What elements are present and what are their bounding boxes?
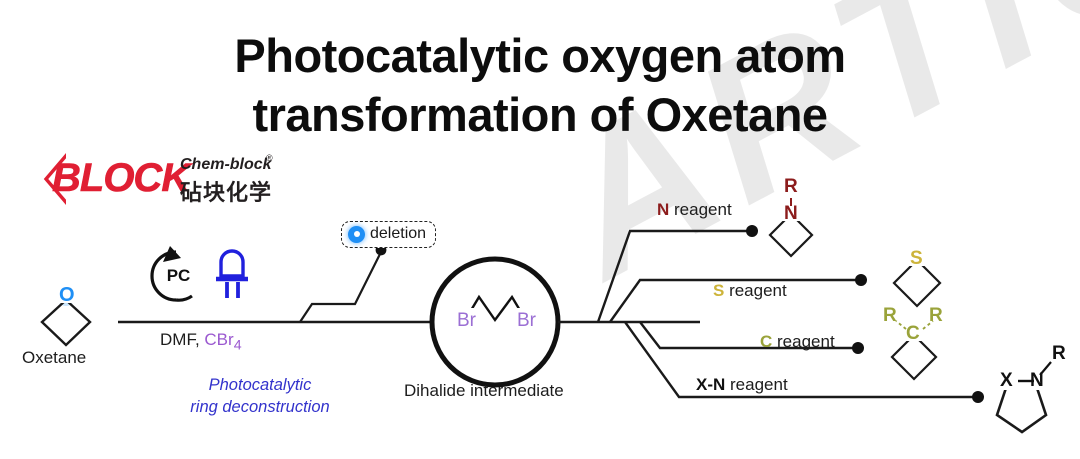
intermediate-right-atom: Br — [517, 310, 536, 332]
thietane-s-label: S — [910, 248, 923, 270]
reagent-symbol-c: C — [760, 332, 772, 351]
oxygen-deletion-badge: deletion — [341, 221, 436, 248]
cyclobutane-r-right-label: R — [929, 305, 943, 327]
branch-dot-c — [852, 342, 864, 354]
reactant-caption: Oxetane — [22, 348, 86, 368]
figure-canvas: ARTICLE Photocatalytic oxygen atom trans… — [0, 0, 1080, 459]
branch-dot-xn — [972, 391, 984, 403]
reaction-note: Photocatalytic ring deconstruction — [160, 374, 360, 419]
reagent-text-xn: reagent — [725, 375, 787, 394]
reagent-symbol-s: S — [713, 281, 724, 300]
oxetane-oxygen-label: O — [59, 284, 75, 307]
pyrazolidine-x-label: X — [1000, 370, 1013, 392]
reaction-note-line-2: ring deconstruction — [160, 396, 360, 418]
cyclobutane-r-left-label: R — [883, 305, 897, 327]
reagent-label-xn: X-N reagent — [696, 375, 788, 395]
reagent-text-c: reagent — [772, 332, 834, 351]
reagent-text-n: reagent — [669, 200, 731, 219]
intermediate-left-atom: Br — [457, 310, 476, 332]
azetidine-n-label: N — [784, 203, 798, 225]
led-icon — [216, 251, 248, 298]
reagent-symbol-xn: X-N — [696, 375, 725, 394]
deletion-leader-line — [300, 252, 381, 322]
reagent-symbol-n: N — [657, 200, 669, 219]
photocatalyst-badge: PC — [148, 250, 204, 302]
photocatalyst-label: PC — [148, 250, 204, 302]
reaction-note-line-1: Photocatalytic — [160, 374, 360, 396]
reagent-text-s: reagent — [724, 281, 786, 300]
reagent-label-c: C reagent — [760, 332, 835, 352]
reagent-label-s: S reagent — [713, 281, 787, 301]
branch-dot-n — [746, 225, 758, 237]
pyrazolidine-r-label: R — [1052, 343, 1066, 365]
deletion-label: deletion — [370, 225, 426, 243]
oxygen-atom-icon — [348, 226, 365, 243]
cyclobutane-c-label: C — [906, 323, 920, 345]
branch-dot-s — [855, 274, 867, 286]
solvent-label: DMF, — [160, 330, 200, 349]
reaction-conditions: DMF, CBr4 — [160, 330, 242, 353]
intermediate-caption: Dihalide intermediate — [404, 381, 564, 401]
reagent-label: CBr4 — [204, 330, 241, 349]
azetidine-r-label: R — [784, 176, 798, 198]
dihalide-intermediate-structure — [432, 259, 558, 385]
pyrazolidine-n-label: N — [1030, 370, 1044, 392]
reagent-label-n: N reagent — [657, 200, 732, 220]
